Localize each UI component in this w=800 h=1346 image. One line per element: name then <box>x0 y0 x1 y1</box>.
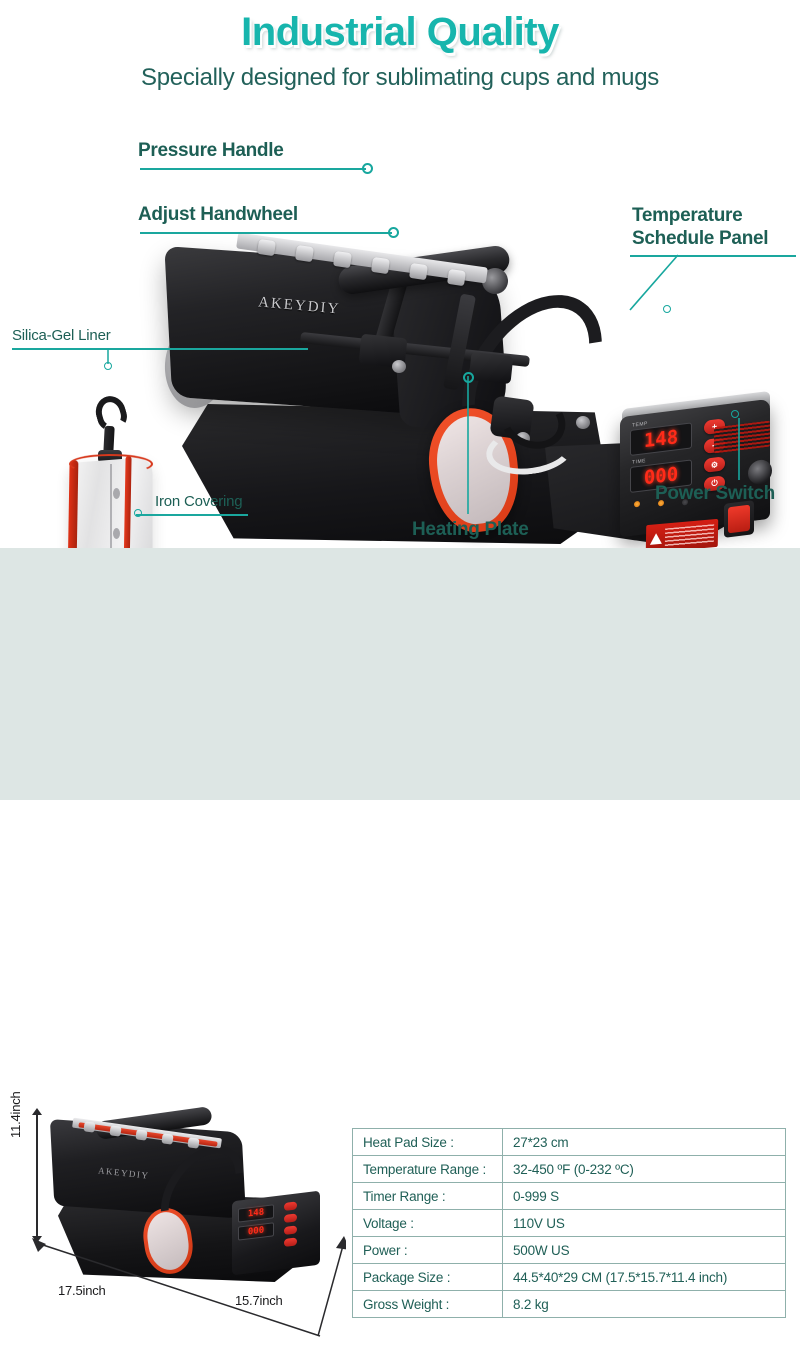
warning-triangle-icon <box>650 532 662 544</box>
specification-table: Heat Pad Size : 27*23 cm Temperature Ran… <box>352 1128 786 1318</box>
spec-value: 8.2 kg <box>503 1291 786 1318</box>
table-row: Temperature Range : 32-450 ºF (0-232 ºC) <box>353 1156 786 1183</box>
callout-silica-gel-liner: Silica-Gel Liner <box>12 327 111 344</box>
spec-key: Timer Range : <box>353 1183 503 1210</box>
callout-temperature-panel-line1: Temperature <box>632 205 742 227</box>
bolt <box>576 416 590 429</box>
leader-diagonal-temperature-panel <box>620 252 680 314</box>
mini-knob <box>187 1137 199 1148</box>
product-illustration: AKEYDIY TEMP 148 TIME 000 + − ⚙ ⏻ <box>0 108 800 548</box>
marker-iron-covering <box>134 509 142 517</box>
settings-button[interactable]: ⚙ <box>704 456 725 473</box>
spec-value: 32-450 ºF (0-232 ºC) <box>503 1156 786 1183</box>
dim-label-height: 11.4inch <box>8 1058 23 1138</box>
bolt <box>392 360 406 373</box>
mini-knob <box>109 1125 121 1136</box>
spec-value: 500W US <box>503 1237 786 1264</box>
dim-arrow-height-top <box>32 1108 42 1115</box>
dim-label-depth: 15.7inch <box>235 1293 283 1308</box>
specification-table-body: Heat Pad Size : 27*23 cm Temperature Ran… <box>353 1129 786 1318</box>
page-title: Industrial Quality <box>0 0 800 52</box>
adjust-knob[interactable] <box>371 257 390 274</box>
adjust-knob[interactable] <box>447 269 466 286</box>
spec-value: 44.5*40*29 CM (17.5*15.7*11.4 inch) <box>503 1264 786 1291</box>
specs-panel: AKEYDIY 148 000 11.4inch 17.5inch 15.7in… <box>0 548 800 800</box>
dim-line-height <box>36 1114 38 1238</box>
table-row: Voltage : 110V US <box>353 1210 786 1237</box>
dim-label-width: 17.5inch <box>58 1283 106 1298</box>
leader-line-adjust-handwheel <box>140 232 392 234</box>
spec-key: Package Size : <box>353 1264 503 1291</box>
spec-key: Heat Pad Size : <box>353 1129 503 1156</box>
spec-value: 110V US <box>503 1210 786 1237</box>
spec-value: 27*23 cm <box>503 1129 786 1156</box>
heat-indicator <box>634 501 640 508</box>
callout-adjust-handwheel: Adjust Handwheel <box>138 204 298 226</box>
marker-adjust-handwheel <box>388 227 399 238</box>
table-row: Package Size : 44.5*40*29 CM (17.5*15.7*… <box>353 1264 786 1291</box>
mini-temperature-display: 148 <box>238 1204 274 1222</box>
mini-knob <box>83 1121 95 1132</box>
liner-hole <box>113 488 120 499</box>
table-row: Power : 500W US <box>353 1237 786 1264</box>
spec-value: 0-999 S <box>503 1183 786 1210</box>
warning-text-lines <box>665 524 714 546</box>
leader-line-silica-gel-liner <box>12 348 308 350</box>
mini-knob <box>161 1133 173 1144</box>
mini-button <box>284 1201 297 1211</box>
table-row: Heat Pad Size : 27*23 cm <box>353 1129 786 1156</box>
callout-temperature-panel-line2: Schedule Panel <box>632 228 768 250</box>
power-switch-rocker <box>728 505 750 534</box>
callout-power-switch: Power Switch <box>655 483 775 505</box>
marker-power-switch <box>731 410 739 418</box>
adjust-knob[interactable] <box>333 251 352 268</box>
spec-key: Temperature Range : <box>353 1156 503 1183</box>
spec-key: Power : <box>353 1237 503 1264</box>
leader-diagonal-silica-gel-liner <box>104 348 118 366</box>
power-switch[interactable] <box>724 500 754 538</box>
leader-line-iron-covering <box>136 514 248 516</box>
mini-button <box>284 1213 297 1223</box>
table-row: Timer Range : 0-999 S <box>353 1183 786 1210</box>
leader-line-power-switch <box>731 418 747 482</box>
header: Industrial Quality Specially designed fo… <box>0 0 800 108</box>
adjust-handwheel[interactable] <box>257 239 276 256</box>
callout-iron-covering: Iron Covering <box>155 493 242 510</box>
callout-heating-plate: Heating Plate <box>412 519 528 541</box>
marker-heating-plate <box>463 372 474 383</box>
spec-key: Voltage : <box>353 1210 503 1237</box>
callout-pressure-handle: Pressure Handle <box>138 140 283 162</box>
marker-pressure-handle <box>362 163 373 174</box>
table-row: Gross Weight : 8.2 kg <box>353 1291 786 1318</box>
liner-hole <box>113 528 120 539</box>
page-subtitle: Specially designed for sublimating cups … <box>0 64 800 92</box>
leader-line-pressure-handle <box>140 168 366 170</box>
marker-temperature-panel <box>663 305 671 313</box>
adjust-knob[interactable] <box>409 263 428 280</box>
spec-key: Gross Weight : <box>353 1291 503 1318</box>
adjust-knob[interactable] <box>295 245 314 262</box>
mini-button <box>284 1225 297 1235</box>
mini-knob <box>135 1129 147 1140</box>
leader-line-heating-plate <box>460 376 476 516</box>
dim-line-depth <box>300 1236 346 1346</box>
